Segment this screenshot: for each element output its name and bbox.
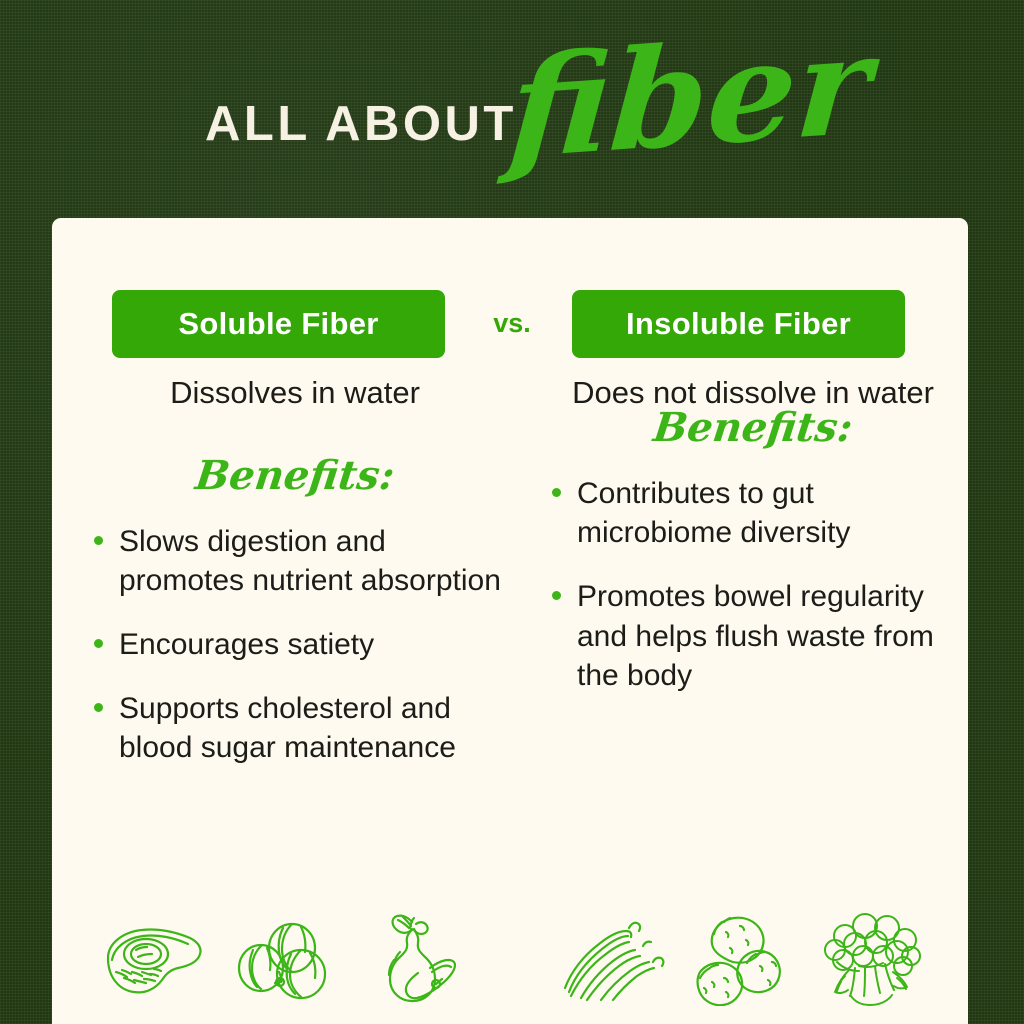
list-item-text: Encourages satiety (119, 625, 374, 665)
bullet-dot-icon (552, 488, 561, 497)
insoluble-food-illustrations (557, 910, 927, 1006)
brussels-sprouts-icon (229, 910, 341, 1006)
list-item: Encourages satiety (94, 625, 510, 665)
list-item-text: Promotes bowel regularity and helps flus… (577, 577, 968, 696)
pill-insoluble-label: Insoluble Fiber (626, 306, 851, 342)
bullet-dot-icon (552, 591, 561, 600)
list-item-text: Slows digestion and promotes nutrient ab… (119, 522, 510, 601)
pill-insoluble-fiber: Insoluble Fiber (572, 290, 905, 358)
list-item-text: Supports cholesterol and blood sugar mai… (119, 689, 510, 768)
avocado-icon (100, 910, 212, 1006)
potatoes-icon (686, 910, 798, 1006)
page-title: ALL ABOUT fiber (0, 58, 1024, 208)
column-soluble-fiber: Dissolves in water Benefits: Slows diges… (80, 374, 510, 792)
column-insoluble-fiber: Does not dissolve in water Benefits: Con… (538, 374, 968, 720)
title-all-about: ALL ABOUT (205, 100, 517, 149)
soluble-subtitle: Dissolves in water (80, 374, 510, 412)
list-item: Supports cholesterol and blood sugar mai… (94, 689, 510, 768)
bullet-dot-icon (94, 536, 103, 545)
pill-soluble-fiber: Soluble Fiber (112, 290, 445, 358)
list-item: Contributes to gut microbiome diversity (552, 474, 968, 553)
broccoli-icon (815, 910, 927, 1006)
list-item-text: Contributes to gut microbiome diversity (577, 474, 968, 553)
comparison-header: Soluble Fiber vs. Insoluble Fiber (52, 290, 968, 358)
pill-soluble-label: Soluble Fiber (178, 306, 378, 342)
list-item: Promotes bowel regularity and helps flus… (552, 577, 968, 696)
soluble-benefits-list: Slows digestion and promotes nutrient ab… (80, 522, 510, 768)
pear-icon (358, 910, 470, 1006)
bullet-dot-icon (94, 703, 103, 712)
soluble-food-illustrations (100, 910, 470, 1006)
soluble-benefits-heading: Benefits: (78, 456, 513, 496)
insoluble-benefits-heading: Benefits: (536, 408, 971, 448)
comparison-card: Soluble Fiber vs. Insoluble Fiber Dissol… (52, 218, 968, 1024)
list-item: Slows digestion and promotes nutrient ab… (94, 522, 510, 601)
green-beans-icon (557, 910, 669, 1006)
insoluble-benefits-list: Contributes to gut microbiome diversity … (538, 474, 968, 696)
bullet-dot-icon (94, 639, 103, 648)
title-fiber-script: fiber (505, 15, 875, 178)
vs-separator: vs. (470, 308, 554, 339)
